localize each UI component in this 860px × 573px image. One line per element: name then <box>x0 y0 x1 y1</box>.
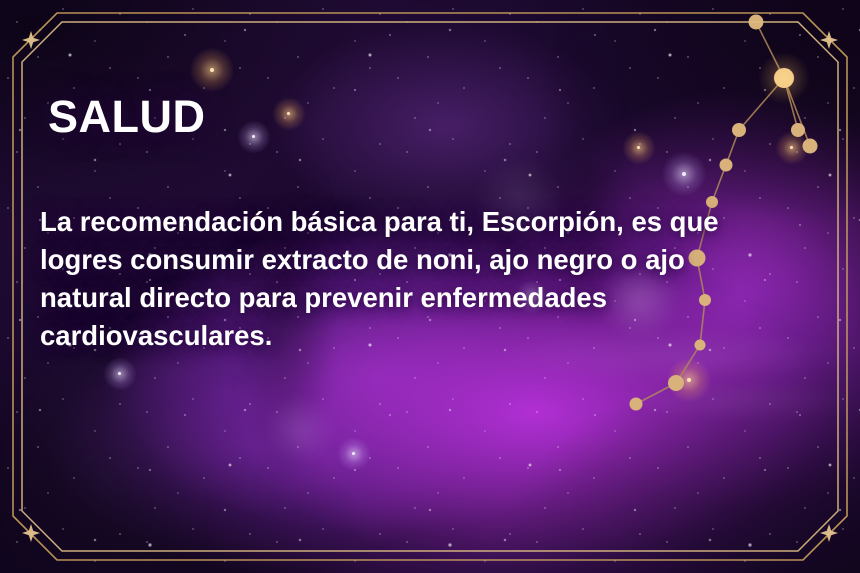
horoscope-card: SALUD La recomendación básica para ti, E… <box>0 0 860 573</box>
body-line: cardiovasculares. <box>40 317 780 355</box>
horoscope-body-text: La recomendación básica para ti, Escorpi… <box>40 203 780 355</box>
body-line: logres consumir extracto de noni, ajo ne… <box>40 241 780 279</box>
page-title: SALUD <box>48 94 206 139</box>
card-content: SALUD La recomendación básica para ti, E… <box>0 0 860 573</box>
body-line: natural directo para prevenir enfermedad… <box>40 279 780 317</box>
body-line: La recomendación básica para ti, Escorpi… <box>40 203 780 241</box>
